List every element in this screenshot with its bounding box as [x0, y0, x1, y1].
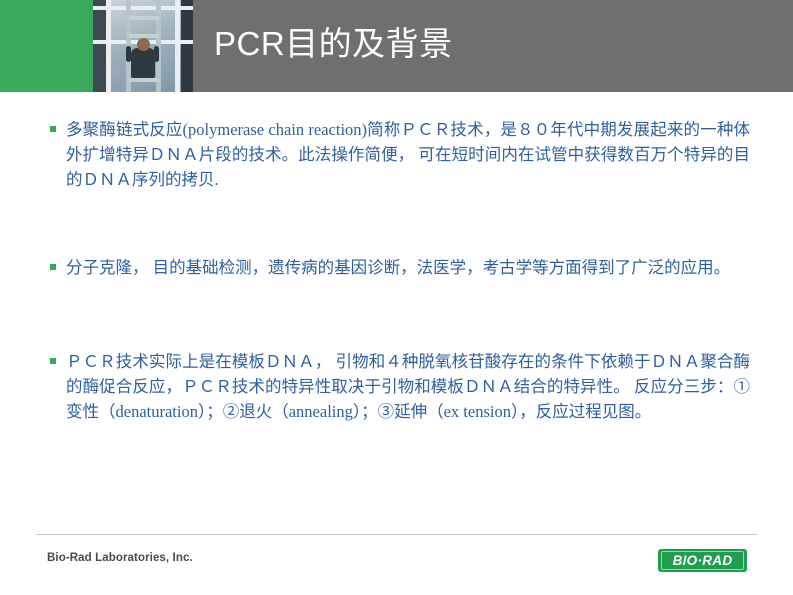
- photo-child-head: [137, 38, 150, 51]
- photo-right-shadow: [181, 0, 193, 92]
- photo-ladder-rung: [129, 78, 159, 82]
- photo-window-frame-left: [106, 0, 111, 92]
- slide: PCR目的及背景 多聚酶链式反应(polymerase chain reacti…: [0, 0, 793, 595]
- slide-body: 多聚酶链式反应(polymerase chain reaction)简称ＰＣＲ技…: [0, 92, 793, 522]
- child-climbing-ladder-photo: [93, 0, 193, 92]
- bullet-item: ＰＣＲ技术实际上是在模板ＤＮＡ， 引物和４种脱氧核苷酸存在的条件下依赖于ＤＮＡ聚…: [50, 349, 750, 424]
- slide-header: PCR目的及背景: [0, 0, 793, 92]
- bullet-item: 多聚酶链式反应(polymerase chain reaction)简称ＰＣＲ技…: [50, 117, 750, 192]
- photo-child-arm-right: [154, 46, 159, 62]
- bullet-text: 分子克隆， 目的基础检测，遗传病的基因诊断，法医学，考古学等方面得到了广泛的应用…: [66, 255, 730, 280]
- photo-child-arm-left: [126, 46, 131, 62]
- bullet-text: 多聚酶链式反应(polymerase chain reaction)简称ＰＣＲ技…: [66, 117, 750, 192]
- photo-ladder-rung: [129, 16, 159, 20]
- photo-window-frame-right: [175, 0, 180, 92]
- bullet-text: ＰＣＲ技术实际上是在模板ＤＮＡ， 引物和４种脱氧核苷酸存在的条件下依赖于ＤＮＡ聚…: [66, 349, 750, 424]
- bio-rad-logo: BIO·RAD: [658, 549, 747, 572]
- header-green-block: [0, 0, 93, 92]
- photo-left-shadow: [93, 0, 106, 92]
- photo-child-body: [131, 48, 155, 78]
- bullet-square-icon: [50, 358, 56, 364]
- bullet-item: 分子克隆， 目的基础检测，遗传病的基因诊断，法医学，考古学等方面得到了广泛的应用…: [50, 255, 750, 280]
- footer-divider: [36, 534, 757, 535]
- photo-window-frame-top: [93, 6, 193, 10]
- bullet-square-icon: [50, 264, 56, 270]
- bullet-square-icon: [50, 126, 56, 132]
- bio-rad-logo-text: BIO·RAD: [658, 549, 747, 572]
- page-title: PCR目的及背景: [214, 24, 453, 64]
- footer-company-name: Bio-Rad Laboratories, Inc.: [47, 552, 193, 564]
